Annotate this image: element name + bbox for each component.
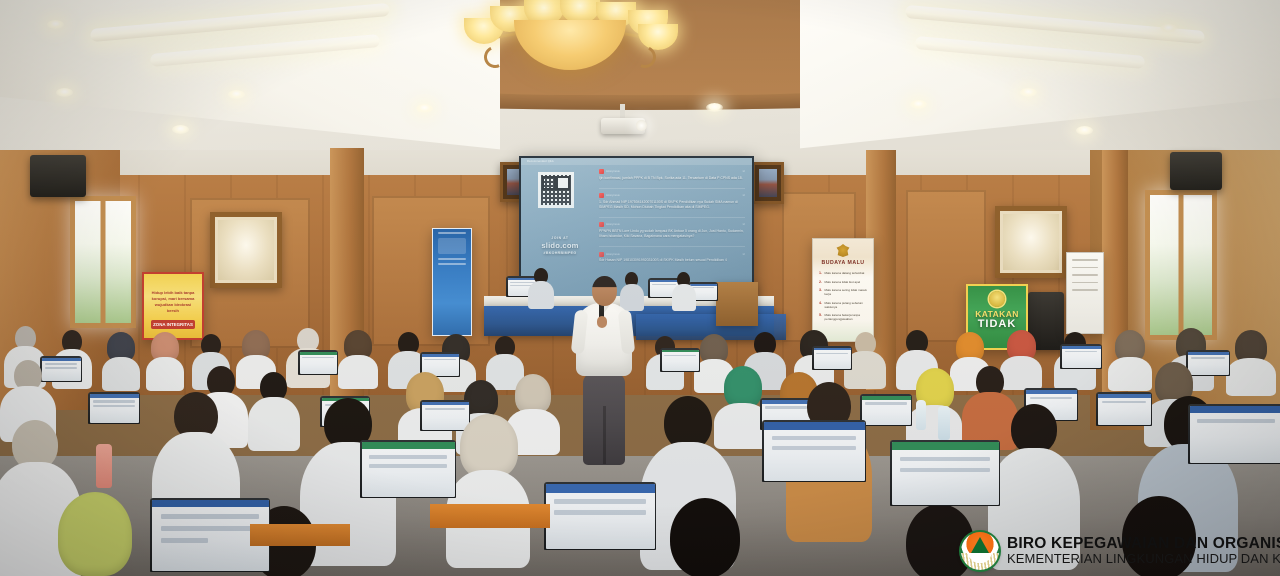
question-text: PPNPN BBTN Lore Lindu yg sudah lampaui B… (599, 229, 745, 239)
avatar (599, 252, 604, 257)
standee-rule (438, 232, 466, 234)
avatar (599, 193, 604, 198)
standee-badge: ZONA INTEGRITAS (151, 320, 195, 329)
qr-code (538, 172, 574, 208)
poster-rule (1072, 289, 1098, 291)
downlight (1020, 88, 1037, 97)
standee-rule (438, 263, 466, 265)
garuda-emblem-icon (836, 244, 850, 257)
downlight (706, 103, 723, 112)
portrait-face (759, 169, 777, 197)
list-item: 1. Malu karena datang terlambat (819, 271, 867, 275)
question-time: 1d (742, 170, 745, 173)
item-number: 3. (819, 288, 822, 296)
list-item: 3. Malu karena sering tidak masuk kerja (819, 288, 867, 296)
item-number: 2. (819, 280, 822, 284)
chandelier-scroll (481, 43, 509, 71)
question-text: Ijin konfirmasi, jumlah PPPK di B TN Bpk… (599, 176, 745, 181)
watermark-text: BIRO KEPEGAWAIAN DAN ORGANISASI KEMENTER… (1007, 536, 1280, 566)
watermark-line-2: KEMENTERIAN LINGKUNGAN HIDUP DAN KEHUTAN… (1007, 552, 1280, 566)
question-author: Anonymous (606, 223, 620, 226)
torso (528, 281, 554, 309)
question-time: 1d (742, 253, 745, 256)
watermark-overlay: BIRO KEPEGAWAIAN DAN ORGANISASI KEMENTER… (953, 528, 1280, 576)
divider (599, 217, 745, 218)
downlight (910, 100, 927, 109)
presenter-with-microphone (572, 276, 634, 471)
presenter-leg-gap (603, 406, 606, 464)
question-time: 1d (742, 194, 745, 197)
head-hijab (515, 374, 551, 414)
list-item: 4. Malu karena pulang sebelum waktunya (819, 301, 867, 309)
downlight (416, 104, 433, 113)
framed-floral-artwork-right (995, 206, 1067, 278)
standee-blue-right-of-screen (432, 228, 472, 336)
downlight (228, 90, 245, 99)
audience-member (338, 330, 378, 386)
ceiling-chandelier (462, 0, 678, 86)
slido-url: slido.com (529, 241, 591, 250)
torso (1226, 358, 1276, 396)
downlight (1076, 126, 1093, 135)
question-card: Anonymous 1d Ijin konfirmasi, jumlah PPP… (599, 169, 745, 181)
window-mullion (1179, 195, 1184, 335)
torso (248, 397, 300, 451)
standee-item-list: 1. Malu karena datang terlambat 2. Malu … (819, 271, 867, 321)
audience-member (248, 372, 300, 448)
audience-member-nearest (646, 498, 766, 576)
avatar (599, 222, 604, 227)
torso (146, 357, 184, 391)
wall-panel (372, 196, 490, 346)
downlight (56, 88, 73, 97)
projector-lens (636, 120, 647, 131)
item-text: Malu karena sering tidak masuk kerja (825, 288, 868, 296)
head-hijab (460, 414, 518, 478)
anti-corruption-seal-icon (989, 291, 1005, 307)
watermark-line-1: BIRO KEPEGAWAIAN DAN ORGANISASI (1007, 536, 1280, 552)
artwork-canvas (1003, 214, 1059, 270)
downlight (172, 125, 189, 134)
item-text: Malu karena bekerja tanpa pertanggungjaw… (825, 313, 868, 321)
divider (599, 188, 745, 189)
question-card: Anonymous 1d 1. Sdr Ahmad NIP 1975041420… (599, 193, 745, 210)
question-author: Anonymous (606, 194, 620, 197)
question-text: Sdr Hasan NIP 19810309199203100S di SK/P… (599, 258, 745, 263)
standee-budaya-malu: BUDAYA MALU 1. Malu karena datang terlam… (812, 238, 874, 342)
framed-floral-artwork-left (210, 212, 282, 288)
vice-president-portrait (752, 162, 784, 204)
question-time: 1d (742, 223, 745, 226)
poster-rule (1072, 282, 1098, 284)
water-bottle (96, 444, 112, 488)
standee-rule (438, 258, 466, 260)
standee-block (438, 238, 466, 254)
window-mullion (101, 201, 106, 323)
roots-icon (961, 553, 999, 570)
water-bottle (938, 406, 950, 440)
artwork-canvas (218, 220, 274, 280)
chandelier-bowl (514, 20, 626, 70)
poster-rule (1072, 274, 1098, 276)
audience-member-nearest (40, 492, 150, 576)
desk-front (430, 504, 550, 528)
torso (672, 284, 696, 311)
standee-yellow-left: Hidup lebih baik tanpa korupsi, mari ber… (142, 272, 204, 340)
list-item: 2. Malu karena tidak ikut apel (819, 280, 867, 284)
slido-topbar: Recommended Q&A (521, 158, 752, 165)
poster-rule (1072, 267, 1098, 269)
slido-question-list: Anonymous 1d Ijin konfirmasi, jumlah PPP… (599, 169, 745, 270)
downlight (47, 20, 64, 29)
torso (338, 355, 378, 389)
question-text: 1. Sdr Ahmad NIP 19750414200701100S di S… (599, 200, 745, 210)
join-prefix: JOIN AT (529, 236, 591, 240)
ministry-of-environment-and-forestry-logo (961, 532, 999, 570)
standee-body-text: Hidup lebih baik tanpa korupsi, mari ber… (150, 290, 196, 314)
item-text: Malu karena pulang sebelum waktunya (825, 301, 868, 309)
window-left (70, 196, 136, 328)
avatar (599, 169, 604, 174)
torso (102, 357, 140, 391)
seminar-hall-photograph: Recommended Q&A JOIN AT slido.com #BKOHR… (0, 0, 1280, 576)
desk-front (250, 524, 350, 546)
downlight (1160, 24, 1177, 33)
head (670, 498, 740, 576)
audience-member (1226, 330, 1276, 392)
slido-event-code: #BKOHRBIMPEG (529, 251, 591, 255)
wall-speaker-right (1170, 152, 1222, 190)
question-card: Anonymous 1d PPNPN BBTN Lore Lindu yg su… (599, 222, 745, 239)
seated-staff (672, 272, 696, 310)
item-number: 5. (819, 313, 822, 321)
item-number: 4. (819, 301, 822, 309)
water-bottle (916, 400, 926, 430)
question-author: Anonymous (606, 253, 620, 256)
window-right (1145, 190, 1217, 340)
audience-member (102, 332, 140, 386)
item-text: Malu karena datang terlambat (825, 271, 865, 275)
slido-join-block: JOIN AT slido.com #BKOHRBIMPEG (529, 236, 591, 255)
divider (599, 246, 745, 247)
presenter-head (592, 276, 617, 306)
question-card: Anonymous 1d Sdr Hasan NIP 1981030919920… (599, 252, 745, 264)
presenter-hand (597, 316, 607, 328)
head (1011, 404, 1057, 454)
slido-topbar-label: Recommended Q&A (521, 158, 752, 163)
podium (716, 282, 758, 326)
audience-member (146, 332, 184, 386)
seated-staff (528, 268, 554, 308)
question-author: Anonymous (606, 170, 620, 173)
list-item: 5. Malu karena bekerja tanpa pertanggung… (819, 313, 867, 321)
standee-title: BUDAYA MALU (813, 260, 873, 266)
audience-member-foreground (446, 414, 530, 562)
audience-member (906, 368, 962, 448)
head-hijab (58, 492, 132, 576)
item-number: 1. (819, 271, 822, 275)
item-text: Malu karena tidak ikut apel (825, 280, 861, 284)
poster-board-far-right (1066, 252, 1104, 334)
wall-speaker-left (30, 155, 86, 197)
poster-rule (1072, 259, 1098, 261)
standee-line-2: TIDAK (968, 318, 1026, 330)
